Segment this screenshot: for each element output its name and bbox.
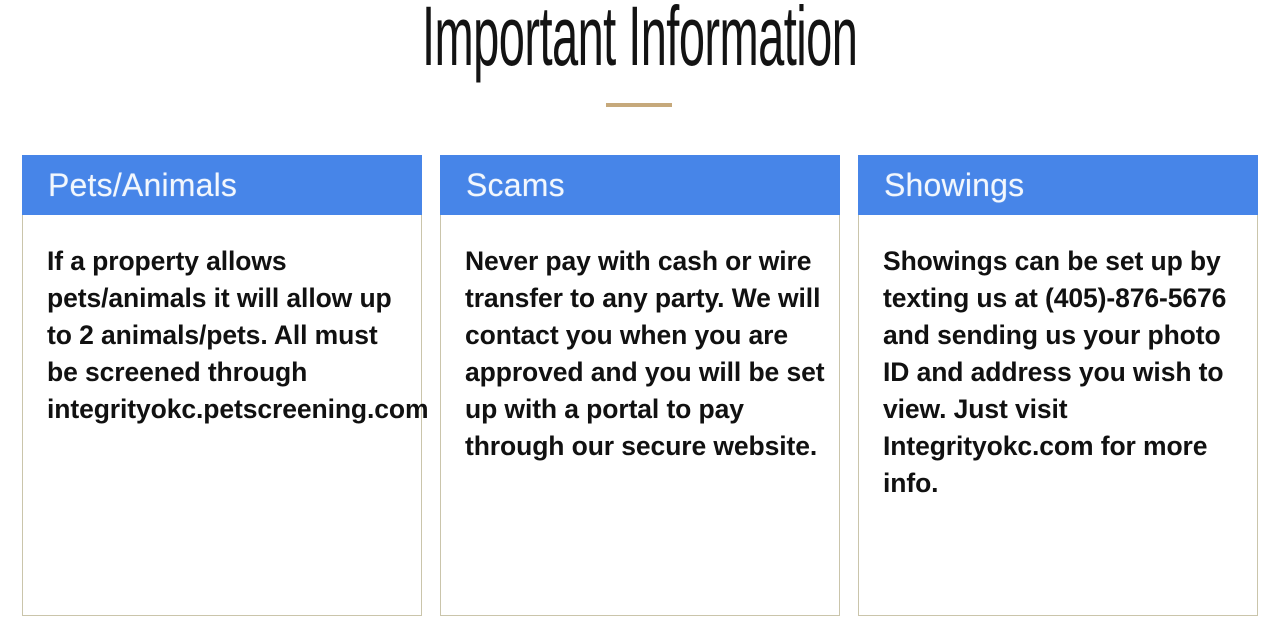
card-header-scams: Scams [440,155,840,215]
card-showings: Showings Showings can be set up by texti… [858,155,1258,616]
card-text-showings: Showings can be set up by texting us at … [883,243,1245,502]
page-title: Important Information [422,0,857,78]
card-header-pets-animals: Pets/Animals [22,155,422,215]
card-scams: Scams Never pay with cash or wire transf… [440,155,840,616]
card-header-showings: Showings [858,155,1258,215]
card-text-pets-animals: If a property allows pets/animals it wil… [47,243,409,428]
card-pets-animals: Pets/Animals If a property allows pets/a… [22,155,422,616]
cards-row: Pets/Animals If a property allows pets/a… [22,155,1259,616]
title-block: Important Information [0,0,1280,78]
card-title-scams: Scams [466,168,565,202]
card-body-showings: Showings can be set up by texting us at … [859,215,1257,615]
title-divider [606,103,672,107]
card-title-pets-animals: Pets/Animals [48,168,237,202]
card-title-showings: Showings [884,168,1024,202]
card-body-pets-animals: If a property allows pets/animals it wil… [23,215,421,615]
card-text-scams: Never pay with cash or wire transfer to … [465,243,827,465]
card-body-scams: Never pay with cash or wire transfer to … [441,215,839,615]
slide-root: Important Information Pets/Animals If a … [0,0,1280,629]
